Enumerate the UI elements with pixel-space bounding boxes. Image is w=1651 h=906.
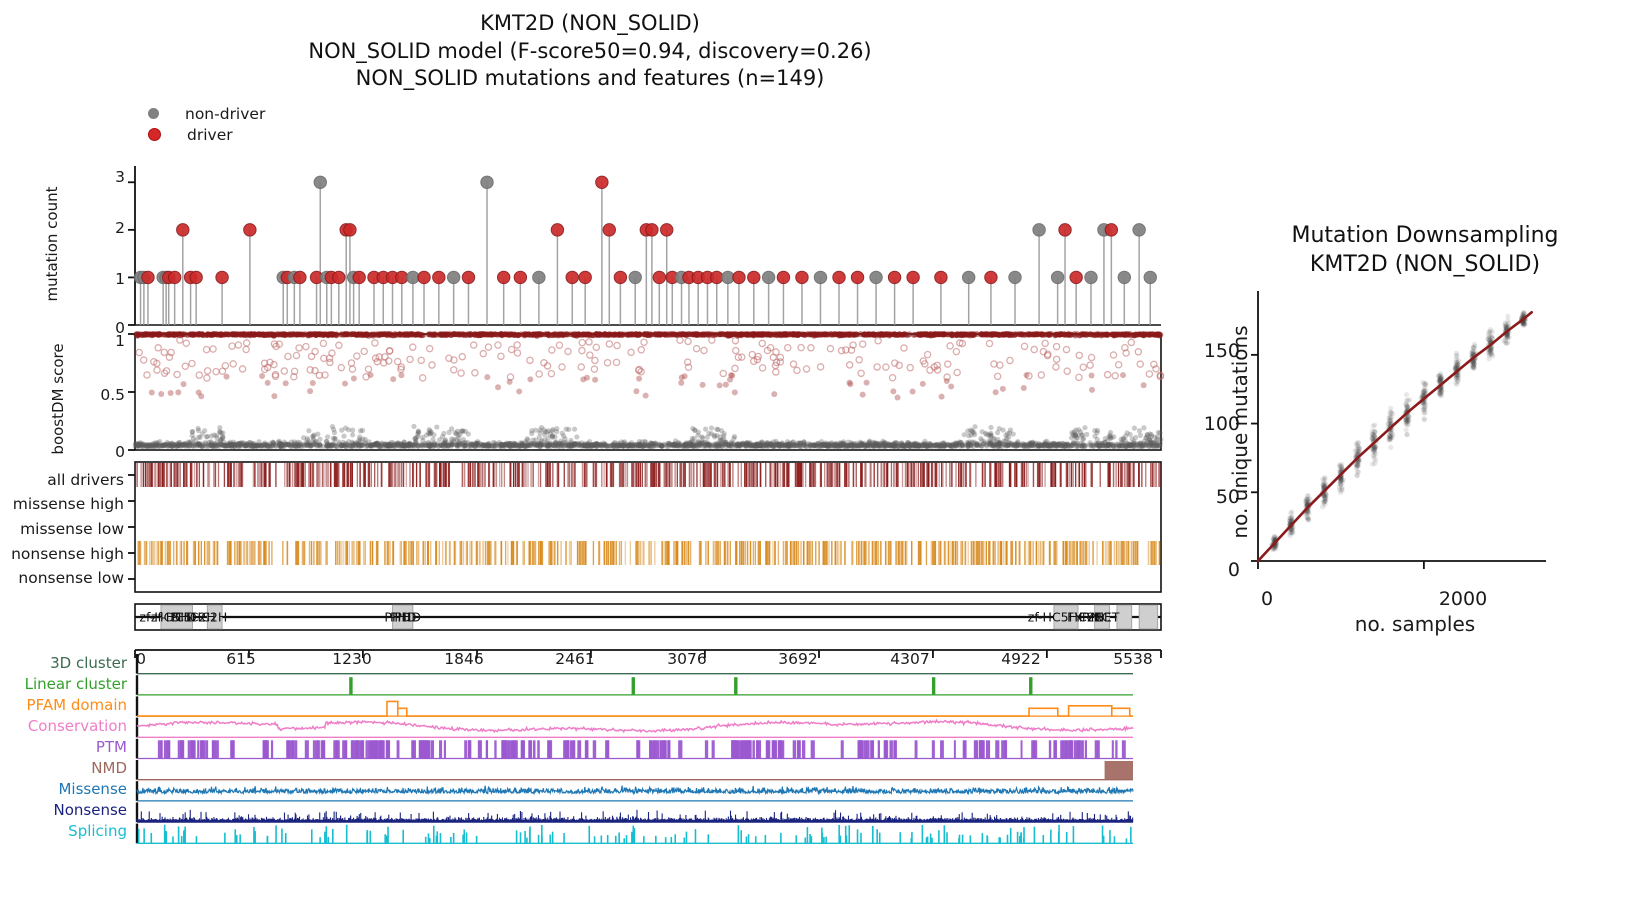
feature-label-conservation: Conservation (0, 717, 127, 735)
feature-tracks-plot[interactable] (135, 650, 1135, 900)
feature-label-linear-cluster: Linear cluster (0, 675, 127, 693)
legend: non-driver driver (148, 103, 265, 145)
legend-label-non-driver: non-driver (185, 105, 265, 123)
boostdm-score-axis-label: boostDM score (49, 334, 67, 464)
downsampling-title-line-1: Mutation Downsampling (1215, 222, 1635, 251)
feature-label-pfam-domain: PFAM domain (0, 696, 127, 714)
downsampling-xlabel: no. samples (1250, 612, 1580, 636)
feature-label-nmd: NMD (0, 759, 127, 777)
gene-mutation-plot[interactable]: zf-HC5HC2HPHDzf-HC5HC2HPHDPHDPHDzf-HC5HC… (118, 160, 1178, 670)
ds-xtick-2000: 2000 (1428, 588, 1498, 610)
mutation-count-axis-label: mutation count (43, 169, 61, 319)
title-line-3: NON_SOLID mutations and features (n=149) (0, 65, 1180, 93)
track-label-nonsense-high: nonsense high (0, 545, 124, 563)
track-label-nonsense-low: nonsense low (0, 569, 124, 587)
title-line-2: NON_SOLID model (F-score50=0.94, discove… (0, 38, 1180, 66)
feature-label-nonsense: Nonsense (0, 801, 127, 819)
downsampling-title: Mutation Downsampling KMT2D (NON_SOLID) (1215, 222, 1635, 279)
legend-dot-non-driver (148, 108, 159, 119)
feature-label-3d-cluster: 3D cluster (0, 654, 127, 672)
ds-ytick-100: 100 (1200, 413, 1240, 435)
ds-xtick-0: 0 (1252, 588, 1282, 610)
track-label-missense-low: missense low (0, 520, 124, 538)
legend-item-driver: driver (148, 124, 265, 145)
title-line-1: KMT2D (NON_SOLID) (0, 10, 1180, 38)
legend-item-non-driver: non-driver (148, 103, 265, 124)
feature-label-ptm: PTM (0, 738, 127, 756)
legend-label-driver: driver (187, 126, 233, 144)
legend-dot-driver (148, 128, 161, 141)
ds-ytick-0: 0 (1214, 559, 1240, 581)
ds-ytick-50: 50 (1207, 486, 1240, 508)
feature-label-splicing: Splicing (0, 822, 127, 840)
track-label-missense-high: missense high (0, 495, 124, 513)
downsampling-title-line-2: KMT2D (NON_SOLID) (1215, 251, 1635, 280)
track-label-all-drivers: all drivers (0, 471, 124, 489)
ds-ytick-150: 150 (1200, 340, 1240, 362)
feature-label-missense: Missense (0, 780, 127, 798)
downsampling-scatter[interactable] (1240, 285, 1550, 585)
figure-title: KMT2D (NON_SOLID) NON_SOLID model (F-sco… (0, 10, 1180, 93)
